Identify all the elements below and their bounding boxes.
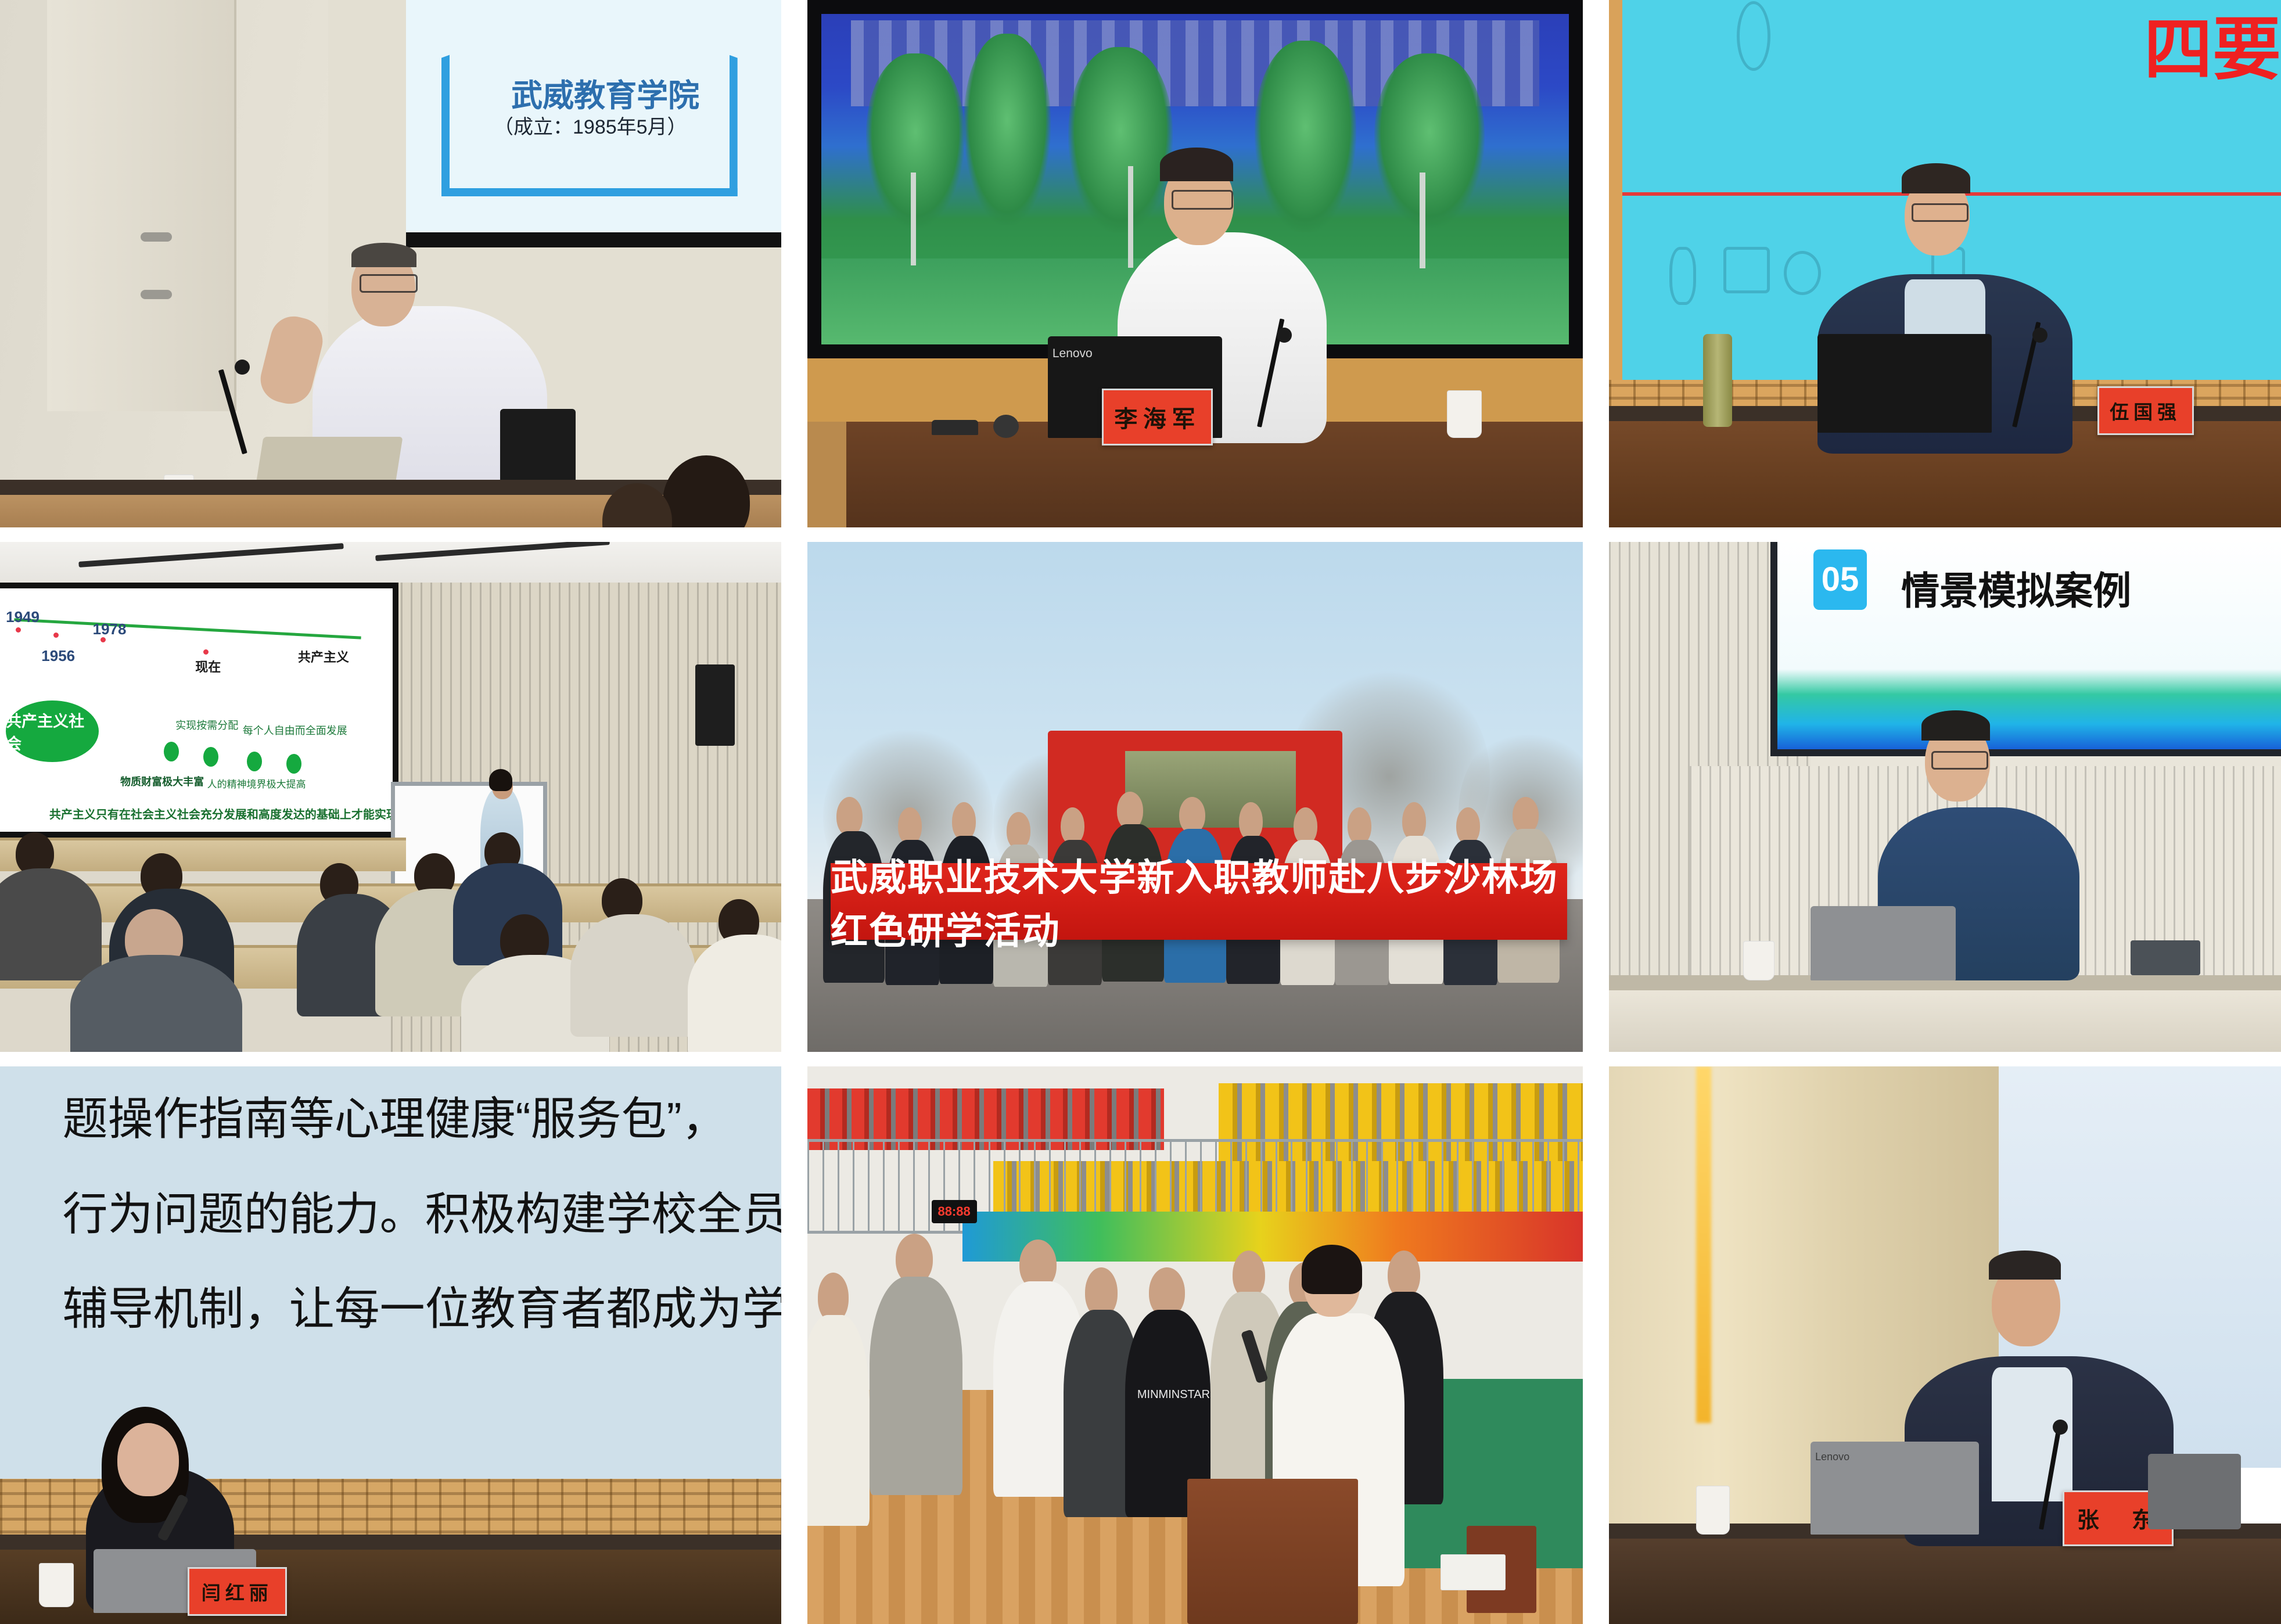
projection-screen-6: 05 情景模拟案例 bbox=[1770, 542, 2281, 756]
photo-tile-middle-right[interactable]: 05 情景模拟案例 bbox=[1609, 542, 2281, 1052]
slide-label-2: 每个人自由而全面发展 bbox=[243, 723, 347, 738]
timeline-label-1978: 1978 bbox=[93, 620, 127, 638]
photo-tile-top-left[interactable]: 武威教育学院 （成立：1985年5月） bbox=[0, 0, 781, 527]
conference-photo-9: Lenovo 张 东 bbox=[1609, 1066, 2281, 1624]
projection-screen-7: 题操作指南等心理健康“服务包”， 行为问题的能力。积极构建学校全员 辅导机制，让… bbox=[0, 1066, 781, 1479]
instructor-hair-4 bbox=[489, 769, 512, 791]
tree-3 bbox=[1068, 47, 1173, 233]
conference-photo-3: 四要 伍国强 bbox=[1609, 0, 2281, 527]
slide-line-1: 题操作指南等心理健康“服务包”， bbox=[63, 1083, 727, 1148]
laptop-6 bbox=[1811, 906, 1956, 980]
student-body-8 bbox=[570, 914, 695, 1037]
slide-line-3: 辅导机制，让每一位教育者都成为学 bbox=[63, 1273, 781, 1338]
slide-label-1: 实现按需分配 bbox=[175, 717, 238, 732]
name-placard-7: 闫红丽 bbox=[188, 1567, 287, 1616]
conference-photo-2: Lenovo 李海军 bbox=[807, 0, 1583, 527]
projection-screen-4: 1949 1956 1978 现在 共产主义 共产主义社会 实现按需分配 每个人… bbox=[0, 583, 398, 838]
glasses-icon bbox=[1172, 190, 1233, 210]
student-body-3 bbox=[70, 955, 242, 1052]
slide-label-4: 人的精神境界极大提高 bbox=[207, 776, 306, 791]
gym-person-2 bbox=[870, 1234, 962, 1624]
glasses-icon bbox=[1912, 203, 1969, 222]
scoreboard-8: 88:88 bbox=[932, 1200, 977, 1223]
lenovo-laptop-9: Lenovo bbox=[1811, 1442, 1979, 1535]
tree-4 bbox=[1255, 41, 1356, 232]
slide-title-3: 四要 bbox=[2144, 0, 2281, 93]
name-placard-3: 伍国强 bbox=[2097, 386, 2194, 435]
paper-cup-7 bbox=[39, 1563, 74, 1607]
microphone-head-1 bbox=[235, 360, 250, 375]
photo-tile-middle-center[interactable]: 武威职业技术大学新入职教师赴八步沙林场红色研学活动 bbox=[807, 542, 1583, 1052]
speaker-hair-3 bbox=[1902, 163, 1970, 193]
glasses-icon bbox=[1931, 751, 1988, 770]
speaker-hair-2 bbox=[1160, 148, 1233, 181]
microphone-head-2 bbox=[1277, 328, 1292, 343]
gym-person-1 bbox=[807, 1273, 870, 1624]
classroom-photo-4: 1949 1956 1978 现在 共产主义 共产主义社会 实现按需分配 每个人… bbox=[0, 542, 781, 1052]
timeline-label-now: 现在 bbox=[195, 657, 221, 676]
slide-number-6: 05 bbox=[1813, 549, 1867, 610]
paper-cup-2 bbox=[1447, 390, 1482, 438]
laptop-brand-label-9: Lenovo bbox=[1815, 1451, 1849, 1463]
timeline-label-goal: 共产主义 bbox=[298, 647, 349, 666]
microphone-head-3 bbox=[2032, 328, 2047, 343]
leaf-icon-4 bbox=[286, 754, 301, 774]
pen-outline-icon bbox=[1669, 247, 1696, 305]
event-banner-5: 武威职业技术大学新入职教师赴八步沙林场红色研学活动 bbox=[831, 863, 1567, 940]
tree-trunk-2 bbox=[1128, 166, 1133, 268]
tree-5 bbox=[1374, 53, 1485, 228]
lecture-photo-7: 题操作指南等心理健康“服务包”， 行为问题的能力。积极构建学校全员 辅导机制，让… bbox=[0, 1066, 781, 1624]
slide-footer-4: 共产主义只有在社会主义社会充分发展和高度发达的基础上才能实现 bbox=[49, 805, 398, 822]
wall-light-strip-9 bbox=[1696, 1066, 1711, 1423]
slide-label-3: 物质财富极大丰富 bbox=[120, 774, 204, 789]
lecture-hall-photo-1: 武威教育学院 （成立：1985年5月） bbox=[0, 0, 781, 527]
thinkpad-laptop-3 bbox=[1817, 334, 1992, 433]
speaker-hair-1 bbox=[351, 243, 416, 267]
paper-cup-9 bbox=[1696, 1486, 1730, 1535]
projection-screen-1: 武威教育学院 （成立：1985年5月） bbox=[406, 0, 781, 247]
mouse-2 bbox=[993, 415, 1019, 438]
door-lock bbox=[141, 290, 172, 299]
student-body-1 bbox=[0, 868, 102, 980]
chair-back-6 bbox=[2131, 940, 2200, 975]
timeline-label-1949: 1949 bbox=[6, 608, 39, 626]
shirt-text-8: MINMINSTAR bbox=[1137, 1388, 1210, 1402]
spoon-outline-icon bbox=[1737, 1, 1770, 71]
tree-trunk-3 bbox=[1420, 173, 1425, 268]
documents-8 bbox=[1441, 1554, 1506, 1590]
timeline-dot-now bbox=[203, 649, 209, 655]
photo-tile-bottom-left[interactable]: 题操作指南等心理健康“服务包”， 行为问题的能力。积极构建学校全员 辅导机制，让… bbox=[0, 1066, 781, 1624]
slide-title-6: 情景模拟案例 bbox=[1901, 560, 2131, 616]
timeline-label-1956: 1956 bbox=[41, 647, 75, 665]
door-handle bbox=[141, 232, 172, 242]
wall-speaker-4 bbox=[695, 664, 735, 746]
door bbox=[47, 0, 237, 411]
name-placard-2: 李海军 bbox=[1102, 389, 1213, 445]
tree-2 bbox=[964, 34, 1051, 225]
microphone-head-9 bbox=[2053, 1420, 2068, 1435]
timeline-dot-1949 bbox=[16, 627, 21, 633]
speaker-hair-9 bbox=[1989, 1251, 2061, 1280]
chair-back-9 bbox=[2148, 1454, 2241, 1529]
gymnasium-photo-8: 88:88 MINMINSTAR bbox=[807, 1066, 1583, 1624]
book-outline-icon bbox=[1723, 247, 1770, 293]
photo-collage: 武威教育学院 （成立：1985年5月） bbox=[0, 0, 2281, 1624]
speaker-hair-6 bbox=[1921, 710, 1990, 741]
lecture-desk-6 bbox=[1609, 975, 2281, 1052]
timeline-axis bbox=[14, 619, 361, 639]
slide-title-1: 武威教育学院 bbox=[511, 70, 699, 116]
photo-tile-bottom-center[interactable]: 88:88 MINMINSTAR bbox=[807, 1066, 1583, 1624]
podium-8 bbox=[1187, 1479, 1358, 1624]
timeline-dot-1956 bbox=[53, 633, 59, 638]
control-box-2 bbox=[932, 420, 978, 435]
photo-tile-top-right[interactable]: 四要 伍国强 bbox=[1609, 0, 2281, 527]
paper-cup-6 bbox=[1743, 941, 1774, 980]
monitor-1 bbox=[500, 409, 576, 490]
photo-tile-top-center[interactable]: Lenovo 李海军 bbox=[807, 0, 1583, 527]
glasses-icon bbox=[360, 274, 418, 293]
speaker-head-7 bbox=[117, 1423, 179, 1496]
thermos-flask-3 bbox=[1703, 334, 1732, 427]
photo-tile-middle-left[interactable]: 1949 1956 1978 现在 共产主义 共产主义社会 实现按需分配 每个人… bbox=[0, 542, 781, 1052]
tree-trunk-1 bbox=[911, 173, 916, 265]
leaf-icon-2 bbox=[203, 747, 218, 767]
group-photo-5: 武威职业技术大学新入职教师赴八步沙林场红色研学活动 bbox=[807, 542, 1583, 1052]
photo-tile-bottom-right[interactable]: Lenovo 张 东 bbox=[1609, 1066, 2281, 1624]
lecture-photo-6: 05 情景模拟案例 bbox=[1609, 542, 2281, 1052]
leaf-icon-3 bbox=[247, 752, 262, 771]
bulb-outline-icon bbox=[1784, 251, 1821, 295]
slide-line-2: 行为问题的能力。积极构建学校全员 bbox=[63, 1178, 781, 1243]
leaf-icon-1 bbox=[164, 742, 179, 761]
slide-subtitle-1: （成立：1985年5月） bbox=[494, 111, 687, 139]
slide-badge-4: 共产主义社会 bbox=[6, 700, 99, 762]
laptop-brand-label-2: Lenovo bbox=[1053, 347, 1093, 361]
